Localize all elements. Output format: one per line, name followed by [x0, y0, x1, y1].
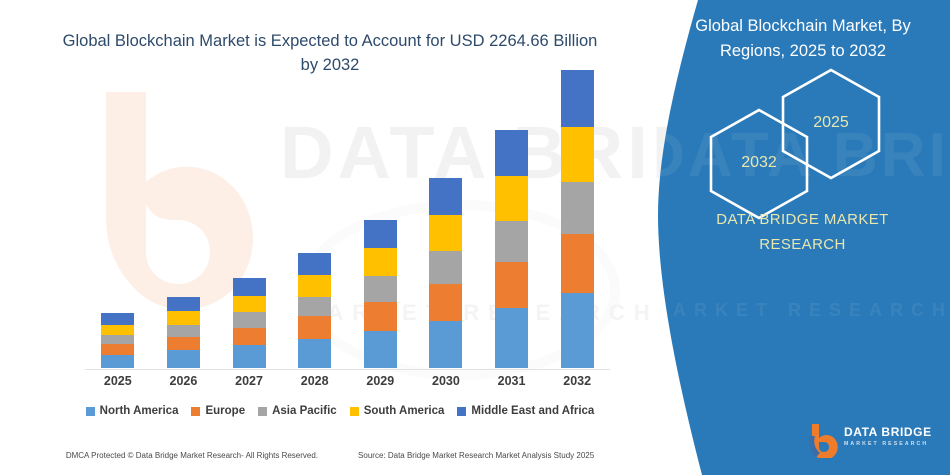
- bar-segment: [561, 293, 594, 368]
- legend-item[interactable]: Middle East and Africa: [457, 405, 594, 417]
- bar-segment: [167, 311, 200, 324]
- bar-segment: [233, 345, 266, 368]
- bar-segment: [233, 328, 266, 346]
- bar-segment: [167, 297, 200, 311]
- bar-group: [85, 100, 610, 368]
- chart-legend: North AmericaEuropeAsia PacificSouth Ame…: [60, 405, 620, 417]
- bar-segment: [298, 297, 331, 317]
- x-axis-label: 2029: [348, 374, 414, 388]
- bar-slot: [216, 100, 282, 368]
- stacked-bar: [167, 297, 200, 368]
- bar-segment: [101, 344, 134, 354]
- stacked-bar: [233, 278, 266, 368]
- bar-segment: [495, 221, 528, 262]
- brand-logo: DATA BRIDGE MARKET RESEARCH: [808, 422, 940, 462]
- legend-item[interactable]: Europe: [191, 405, 245, 417]
- bar-segment: [298, 339, 331, 368]
- panel-brand: DATA BRIDGE MARKET RESEARCH: [670, 208, 935, 258]
- legend-swatch-icon: [350, 407, 359, 416]
- hexagon-2025-label: 2025: [791, 114, 871, 132]
- x-axis-label: 2030: [413, 374, 479, 388]
- bar-segment: [167, 325, 200, 337]
- legend-swatch-icon: [258, 407, 267, 416]
- legend-swatch-icon: [191, 407, 200, 416]
- bar-segment: [101, 355, 134, 368]
- stacked-bar: [298, 253, 331, 368]
- legend-item[interactable]: South America: [350, 405, 445, 417]
- x-axis-labels: 20252026202720282029203020312032: [85, 374, 610, 388]
- bar-segment: [298, 253, 331, 276]
- bar-segment: [364, 248, 397, 276]
- chart-plot-area: [85, 100, 610, 370]
- bar-segment: [561, 127, 594, 183]
- panel-brand-line2: RESEARCH: [670, 233, 935, 258]
- x-axis-label: 2028: [282, 374, 348, 388]
- bar-slot: [348, 100, 414, 368]
- bar-segment: [298, 316, 331, 339]
- axis-baseline: [85, 369, 610, 370]
- legend-label: Middle East and Africa: [471, 405, 594, 417]
- bar-segment: [364, 302, 397, 331]
- legend-label: North America: [100, 405, 179, 417]
- stacked-bar: [101, 313, 134, 368]
- bar-segment: [495, 262, 528, 308]
- panel-brand-line1: DATA BRIDGE MARKET: [670, 208, 935, 233]
- x-axis-label: 2026: [151, 374, 217, 388]
- brand-logo-mark-icon: [808, 422, 842, 458]
- x-axis-label: 2031: [479, 374, 545, 388]
- legend-item[interactable]: North America: [86, 405, 179, 417]
- infographic-root: DATA BRIDGE MARKET RESEARCH Global Block…: [0, 0, 950, 475]
- bar-segment: [429, 215, 462, 250]
- bar-segment: [429, 178, 462, 215]
- bar-segment: [495, 130, 528, 176]
- bar-segment: [495, 176, 528, 220]
- bar-segment: [101, 313, 134, 324]
- legend-label: Asia Pacific: [272, 405, 337, 417]
- bar-slot: [413, 100, 479, 368]
- stacked-bar: [495, 130, 528, 368]
- bar-slot: [544, 100, 610, 368]
- bar-segment: [495, 308, 528, 368]
- bar-slot: [85, 100, 151, 368]
- x-axis-label: 2027: [216, 374, 282, 388]
- stacked-bar: [561, 70, 594, 368]
- chart-title: Global Blockchain Market is Expected to …: [60, 30, 600, 78]
- bar-segment: [429, 251, 462, 284]
- x-axis-label: 2032: [544, 374, 610, 388]
- bar-slot: [479, 100, 545, 368]
- bar-segment: [561, 70, 594, 127]
- bar-segment: [364, 331, 397, 368]
- bar-segment: [167, 350, 200, 368]
- bar-segment: [101, 335, 134, 344]
- stacked-bar: [429, 178, 462, 368]
- hexagon-group: 2032 2025: [678, 88, 928, 178]
- bar-segment: [298, 275, 331, 297]
- legend-label: South America: [364, 405, 445, 417]
- bar-segment: [429, 321, 462, 368]
- bar-segment: [429, 284, 462, 321]
- stacked-bar: [364, 220, 397, 368]
- bar-segment: [101, 325, 134, 335]
- footer: DMCA Protected © Data Bridge Market Rese…: [0, 451, 660, 460]
- panel-watermark-subtitle: MARKET RESEARCH: [650, 300, 950, 321]
- x-axis-label: 2025: [85, 374, 151, 388]
- bar-segment: [233, 312, 266, 327]
- brand-logo-name: DATA BRIDGE: [844, 426, 932, 439]
- right-panel: DATA BRIDGE MARKET RESEARCH Global Block…: [650, 0, 950, 475]
- footer-copyright: DMCA Protected © Data Bridge Market Rese…: [66, 451, 318, 460]
- bar-segment: [364, 276, 397, 302]
- panel-title: Global Blockchain Market, By Regions, 20…: [678, 14, 928, 64]
- footer-source: Source: Data Bridge Market Research Mark…: [358, 451, 594, 460]
- legend-swatch-icon: [86, 407, 95, 416]
- bar-segment: [233, 296, 266, 312]
- brand-logo-tagline: MARKET RESEARCH: [844, 441, 932, 447]
- bar-segment: [233, 278, 266, 296]
- bar-segment: [561, 182, 594, 234]
- legend-label: Europe: [205, 405, 245, 417]
- bar-slot: [151, 100, 217, 368]
- legend-item[interactable]: Asia Pacific: [258, 405, 337, 417]
- bar-segment: [167, 337, 200, 350]
- legend-swatch-icon: [457, 407, 466, 416]
- bar-segment: [561, 234, 594, 293]
- bar-segment: [364, 220, 397, 249]
- bar-slot: [282, 100, 348, 368]
